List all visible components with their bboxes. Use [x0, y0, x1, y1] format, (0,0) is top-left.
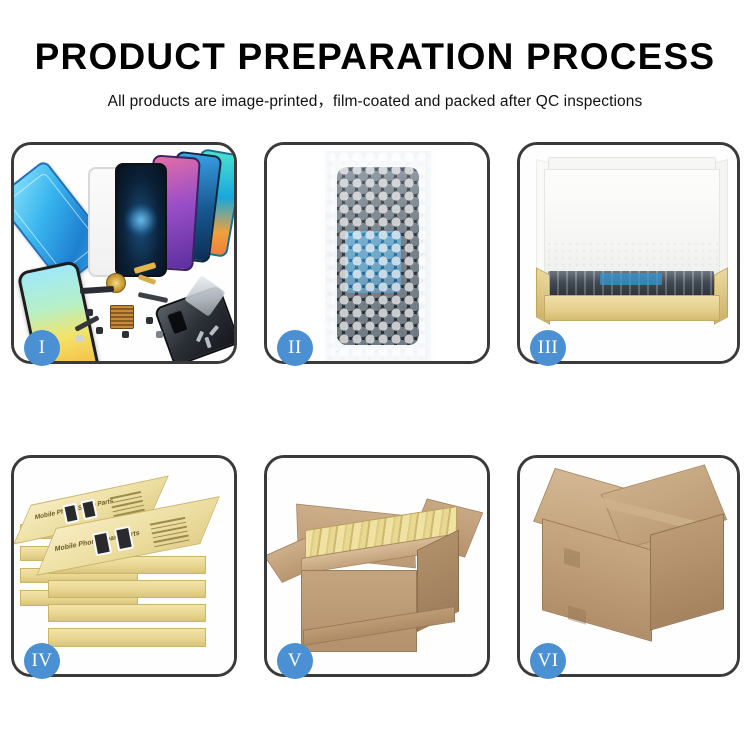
dark-display-phone-icon — [115, 163, 167, 277]
step-panel-3: III — [517, 142, 740, 364]
step-badge-6: VI — [530, 643, 566, 679]
retail-box-layer — [48, 628, 206, 647]
bubble-wrapped-item-illustration — [267, 145, 487, 361]
step-badge-2: II — [277, 330, 313, 366]
step-6-image — [520, 458, 737, 674]
flex-cable-icon — [138, 292, 168, 303]
small-part-icon — [96, 327, 103, 334]
step-badge-5: V — [277, 643, 313, 679]
step-3-image — [520, 145, 737, 361]
film-edge-left — [321, 151, 331, 361]
small-part-icon — [146, 317, 153, 324]
small-part-icon — [122, 331, 129, 338]
sealed-carton-illustration — [520, 458, 737, 674]
small-part-icon — [76, 335, 83, 342]
step-badge-1: I — [24, 330, 60, 366]
retail-box-layer — [48, 604, 206, 622]
kraft-box-front-panel — [544, 295, 720, 321]
flex-cable-icon — [80, 286, 114, 294]
packed-wrapped-parts — [548, 271, 714, 297]
step-4-image: Mobile Phone Spare Parts Mobile Phone Sp… — [14, 458, 234, 674]
step-5-image — [267, 458, 487, 674]
product-preparation-infographic: PRODUCT PREPARATION PROCESS All products… — [0, 0, 750, 750]
open-shipping-carton-illustration — [267, 458, 487, 674]
step-2-image — [267, 145, 487, 361]
step-panel-5: V — [264, 455, 490, 677]
step-panel-4: Mobile Phone Spare Parts Mobile Phone Sp… — [11, 455, 237, 677]
film-edge-right — [425, 151, 437, 361]
steps-grid: I II — [0, 0, 750, 750]
step-panel-6: VI — [517, 455, 740, 677]
step-panel-2: II — [264, 142, 490, 364]
small-part-icon — [86, 309, 93, 316]
retail-box-layer — [48, 580, 206, 598]
step-panel-1: I — [11, 142, 237, 364]
carton-side-face — [650, 513, 724, 630]
step-badge-4: IV — [24, 643, 60, 679]
stacked-retail-boxes-illustration: Mobile Phone Spare Parts Mobile Phone Sp… — [20, 476, 232, 666]
circuit-chip-icon — [110, 305, 134, 329]
small-part-icon — [156, 331, 163, 338]
bubble-texture-overlay — [331, 157, 437, 361]
step-1-image — [14, 145, 234, 361]
phones-and-parts-illustration — [14, 145, 234, 361]
step-badge-3: III — [530, 330, 566, 366]
open-inner-box-illustration — [520, 145, 737, 361]
